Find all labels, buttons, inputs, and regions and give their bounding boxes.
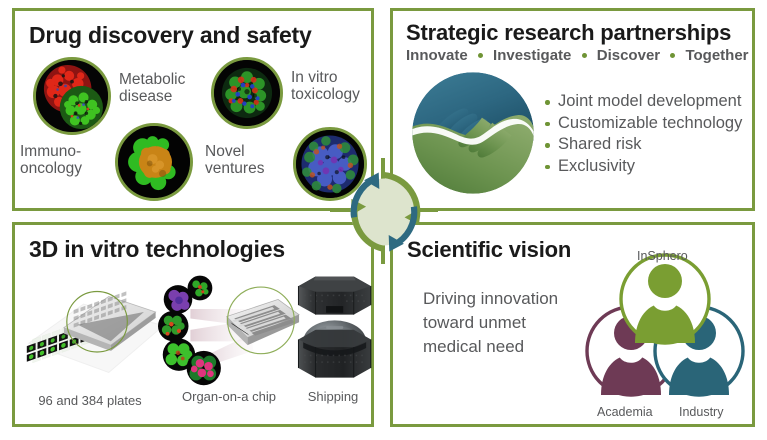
- venn-label-academia: Academia: [597, 405, 653, 419]
- organ-on-a-chip-illustration-icon: [158, 267, 301, 389]
- panel-partners-subtitle: Innovate Investigate Discover Together: [406, 47, 752, 64]
- list-item: Joint model development: [545, 91, 742, 113]
- subtitle-word-together: Together: [685, 47, 748, 64]
- list-item: Exclusivity: [545, 156, 742, 178]
- handshake-circle-logo-icon: [409, 69, 537, 197]
- spheroid-multicolor-art: [214, 60, 280, 126]
- list-item: Shared risk: [545, 134, 742, 156]
- spheroid-image-immuno-oncology: [115, 123, 193, 201]
- venn-label-insphero: InSphero: [637, 249, 688, 263]
- subtitle-word-discover: Discover: [597, 47, 660, 64]
- panel-drug-title: Drug discovery and safety: [29, 22, 371, 49]
- panel-tech-title: 3D in vitro technologies: [29, 236, 371, 263]
- tech-items-group: 96 and 384 plates: [15, 267, 371, 425]
- tech-item-organ-on-a-chip: Organ-on-a chip: [155, 267, 303, 404]
- vision-statement-line: Driving innovation: [423, 287, 558, 311]
- tech-caption-plates: 96 and 384 plates: [19, 393, 161, 408]
- panel-partners-title: Strategic research partnerships: [406, 20, 752, 46]
- panel-drug-discovery: Drug discovery and safety: [12, 8, 374, 211]
- panel-3d-in-vitro-technologies: 3D in vitro technologies: [12, 222, 374, 427]
- separator-dot-icon: [478, 53, 483, 58]
- spheroid-red-green-art: [36, 60, 108, 132]
- partner-benefits-list: Joint model development Customizable tec…: [545, 91, 742, 177]
- shipping-container-illustration-icon: [287, 267, 382, 389]
- vision-statement-line: toward unmet: [423, 311, 558, 335]
- drug-items-group: Metabolic disease: [15, 51, 371, 211]
- spheroid-image-metabolic-disease: [33, 57, 111, 135]
- cycle-diagram-icon: [340, 168, 428, 256]
- panel-scientific-vision: Scientific vision Driving innovation tow…: [390, 222, 755, 427]
- microplate-illustration-icon: [19, 271, 165, 393]
- tech-caption-organ-on-a-chip: Organ-on-a chip: [155, 389, 303, 404]
- label-novel-ventures: Novel ventures: [205, 143, 264, 177]
- separator-dot-icon: [582, 53, 587, 58]
- spheroid-green-orange-art: [118, 126, 190, 198]
- label-immuno-oncology: Immuno- oncology: [20, 143, 82, 177]
- tech-item-shipping: Shipping: [287, 267, 379, 404]
- tech-item-plates: 96 and 384 plates: [19, 271, 161, 408]
- label-in-vitro-toxicology: In vitro toxicology: [291, 69, 360, 103]
- venn-label-industry: Industry: [679, 405, 723, 419]
- label-metabolic-disease: Metabolic disease: [119, 71, 185, 105]
- infographic-root: Drug discovery and safety: [0, 0, 767, 440]
- vision-statement: Driving innovation toward unmet medical …: [423, 287, 558, 359]
- spheroid-image-in-vitro-toxicology: [211, 57, 283, 129]
- list-item: Customizable technology: [545, 113, 742, 135]
- stakeholder-venn-diagram: [579, 243, 751, 411]
- venn-circle-insphero: [621, 255, 709, 343]
- subtitle-word-investigate: Investigate: [493, 47, 571, 64]
- panel-strategic-partnerships: Strategic research partnerships Innovate…: [390, 8, 755, 211]
- tech-caption-shipping: Shipping: [287, 389, 379, 404]
- separator-dot-icon: [670, 53, 675, 58]
- vision-statement-line: medical need: [423, 335, 558, 359]
- subtitle-word-innovate: Innovate: [406, 47, 468, 64]
